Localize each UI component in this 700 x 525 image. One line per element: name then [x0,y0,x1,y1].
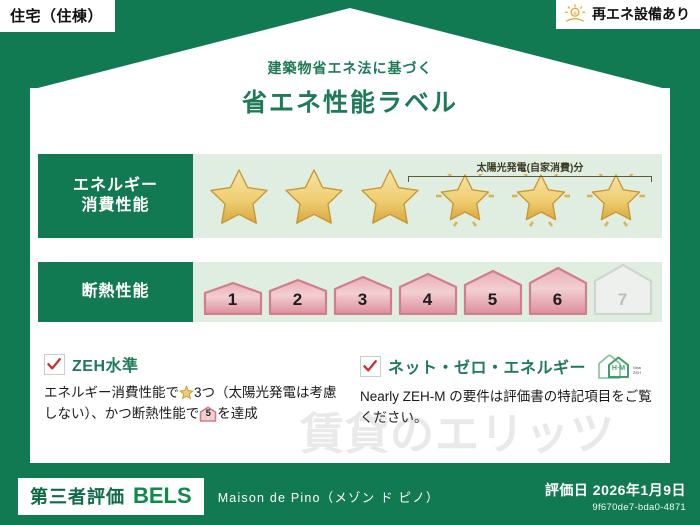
check-icon [360,356,381,377]
label-subtitle: 建築物省エネ法に基づく [0,58,700,78]
evaluation-id: 9f670de7-bda0-4871 [545,502,686,513]
house-type-label: 住宅（住棟） [10,8,103,25]
criterion-zeh-header: ZEH水準 [44,352,342,376]
insulation-row-label: 断熱性能 [38,262,193,322]
criterion-zeh-badge-number: 5 [199,407,217,421]
criterion-nze-title: ネット・ゼロ・エネルギー [388,354,586,378]
renewable-energy-chip: ⊕ 再エネ設備あり [556,0,700,29]
energy-performance-label: 住宅（住棟） ⊕ 再エネ設備あり 建築物省エネ法に基づく 省エネ性能ラベル [0,0,700,525]
criterion-nze-header: ネット・ゼロ・エネルギー H·M Nearly ZEH-M [360,352,658,380]
insulation-level-1: 1 [202,281,264,315]
insulation-level-3: 3 [332,275,394,315]
star-2 [281,163,347,229]
insulation-level-6: 6 [527,266,589,315]
insulation-level-5: 5 [462,269,524,315]
insulation-level-2-number: 2 [267,290,329,310]
zeh-m-logo-text: H·M [612,365,625,372]
renewable-label: 再エネ設備あり [592,4,690,24]
zeh-m-house-icon: H·M Nearly ZEH-M [595,352,641,380]
insulation-level-2: 2 [267,278,329,315]
svg-text:⊕: ⊕ [573,12,577,17]
criterion-zeh-text-pre: エネルギー消費性能で [44,385,179,400]
evaluation-date: 評価日 2026年1月9日 [545,480,686,500]
energy-row-body: 太陽光発電(自家消費)分 [193,154,662,238]
insulation-label-text: 断熱性能 [81,282,149,302]
label-main-title: 省エネ性能ラベル [0,83,700,119]
house-icon: 5 [199,406,217,422]
bels-jp-label: 第三者評価 [30,483,125,509]
insulation-level-scale: 1 2 3 4 [193,262,662,322]
insulation-row-body: 1 2 3 4 [193,262,662,322]
criterion-zeh-title: ZEH水準 [72,352,139,376]
energy-row-label: エネルギー 消費性能 [38,154,193,238]
bels-en-label: BELS [133,483,192,509]
insulation-level-4: 4 [397,272,459,315]
insulation-level-1-number: 1 [202,290,264,310]
bels-badge: 第三者評価 BELS [18,478,204,515]
criterion-zeh-body: エネルギー消費性能で 3つ（太陽光発電は考慮しない）、かつ断熱性能で 5 を達成 [44,383,342,424]
insulation-level-5-number: 5 [462,290,524,310]
criterion-nze-body: Nearly ZEH-M の要件は評価書の特記項目をご覧ください。 [360,387,658,428]
building-name: Maison de Pino（メゾン ド ピノ） [218,487,440,506]
star-1 [206,163,272,229]
star-icon [179,385,194,400]
evaluation-info: 評価日 2026年1月9日 9f670de7-bda0-4871 [545,480,686,513]
insulation-level-7-number: 7 [592,290,654,310]
energy-performance-row: エネルギー 消費性能 太陽光発電(自家消費)分 [38,154,662,238]
insulation-level-4-number: 4 [397,290,459,310]
insulation-level-6-number: 6 [527,290,589,310]
criteria-section: ZEH水準 エネルギー消費性能で 3つ（太陽光発電は考慮しない）、かつ断熱性能で… [44,352,658,428]
criterion-zeh-text-post: を達成 [217,406,258,421]
label-title-block: 建築物省エネ法に基づく 省エネ性能ラベル [0,58,700,119]
zeh-m-logo-sub2: ZEH-M [633,370,641,375]
criterion-net-zero-energy: ネット・ゼロ・エネルギー H·M Nearly ZEH-M Nearly ZEH… [360,352,658,428]
energy-label-line2: 消費性能 [81,196,149,216]
house-type-chip: 住宅（住棟） [0,0,115,32]
footer-bar: 第三者評価 BELS Maison de Pino（メゾン ド ピノ） 評価日 … [0,467,700,525]
solar-bracket: 太陽光発電(自家消費)分 [408,160,652,182]
insulation-performance-row: 断熱性能 1 2 [38,262,662,322]
criterion-zeh-standard: ZEH水準 エネルギー消費性能で 3つ（太陽光発電は考慮しない）、かつ断熱性能で… [44,352,342,428]
insulation-level-7: 7 [592,263,654,315]
sun-icon: ⊕ [564,4,586,24]
energy-label-line1: エネルギー [73,176,158,196]
solar-bracket-label: 太陽光発電(自家消費)分 [408,159,652,174]
insulation-level-3-number: 3 [332,290,394,310]
check-icon [44,354,65,375]
